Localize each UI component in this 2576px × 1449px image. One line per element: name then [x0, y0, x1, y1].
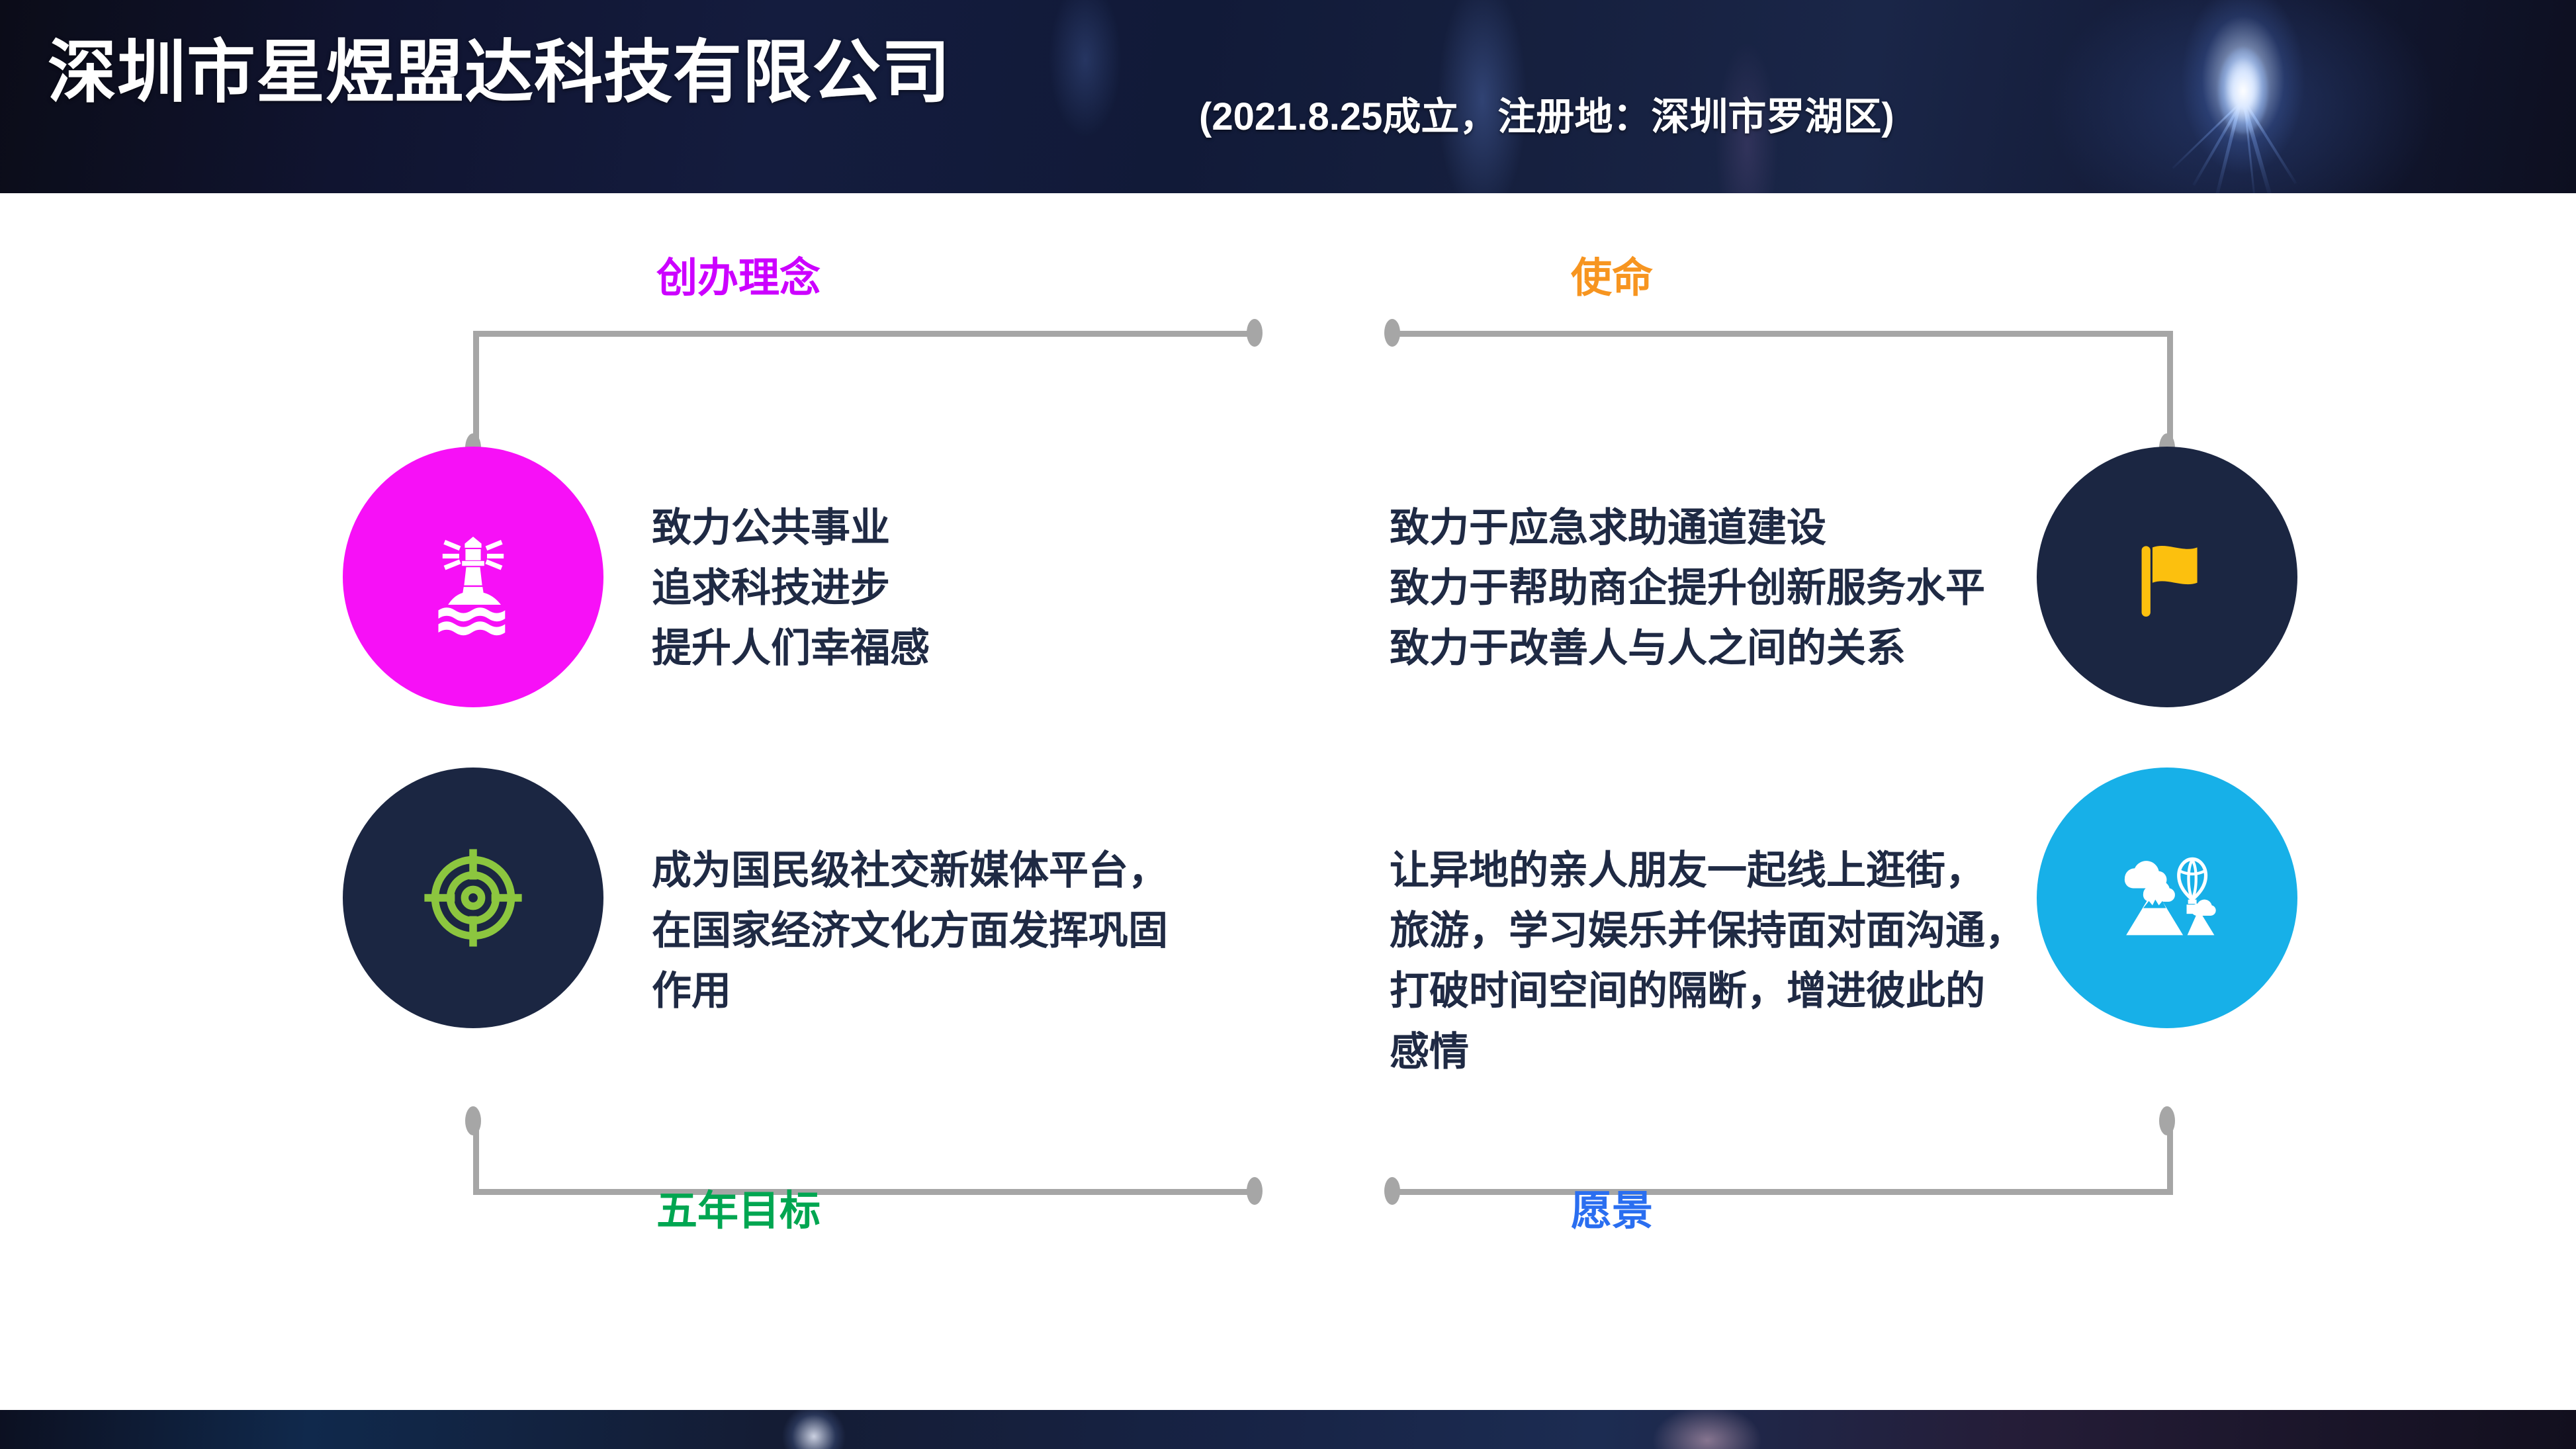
connector-dot-goal — [1247, 1177, 1263, 1205]
connector-line-goal-vertical — [473, 1125, 479, 1195]
light-source-glow — [2218, 48, 2268, 134]
connector-line-goal-horizontal — [473, 1189, 1254, 1195]
mountain-balloon-icon — [2096, 827, 2239, 969]
connector-line-mission-horizontal — [1392, 331, 2173, 337]
section-label-mission: 使命 — [1571, 258, 1653, 299]
body-text-five-year-goal: 成为国民级社交新媒体平台， 在国家经济文化方面发挥巩固 作用 — [652, 840, 1168, 1022]
connector-line-founding-horizontal — [473, 331, 1254, 337]
connector-line-vision-horizontal — [1392, 1189, 2173, 1195]
icon-circle-five-year-goal — [343, 768, 603, 1028]
section-label-vision: 愿景 — [1571, 1191, 1653, 1232]
page-subtitle: (2021.8.25成立，注册地：深圳市罗湖区) — [1199, 98, 1894, 136]
body-text-mission: 致力于应急求助通道建设 致力于帮助商企提升创新服务水平 致力于改善人与人之间的关… — [1390, 498, 1985, 679]
lighthouse-icon — [404, 507, 543, 646]
slide-canvas: 深圳市星煜盟达科技有限公司 (2021.8.25成立，注册地：深圳市罗湖区) 创… — [0, 0, 2576, 1449]
icon-circle-vision — [2037, 768, 2297, 1028]
section-label-founding-philosophy: 创办理念 — [656, 258, 821, 299]
connector-dot-founding — [1247, 319, 1263, 347]
page-title: 深圳市星煜盟达科技有限公司 — [48, 38, 951, 107]
footer-banner — [0, 1410, 2576, 1449]
target-icon — [397, 822, 549, 974]
connector-dot-vision-circle — [2159, 1106, 2175, 1135]
connector-line-vision-vertical — [2167, 1125, 2173, 1195]
icon-circle-mission — [2037, 447, 2297, 707]
icon-circle-founding-philosophy — [343, 447, 603, 707]
body-text-vision: 让异地的亲人朋友一起线上逛街， 旅游，学习娱乐并保持面对面沟通， 打破时间空间的… — [1390, 840, 2025, 1082]
header-banner: 深圳市星煜盟达科技有限公司 (2021.8.25成立，注册地：深圳市罗湖区) — [0, 0, 2576, 193]
body-text-founding-philosophy: 致力公共事业 追求科技进步 提升人们幸福感 — [652, 498, 930, 679]
section-label-five-year-goal: 五年目标 — [656, 1191, 821, 1232]
flag-icon — [2100, 509, 2235, 645]
